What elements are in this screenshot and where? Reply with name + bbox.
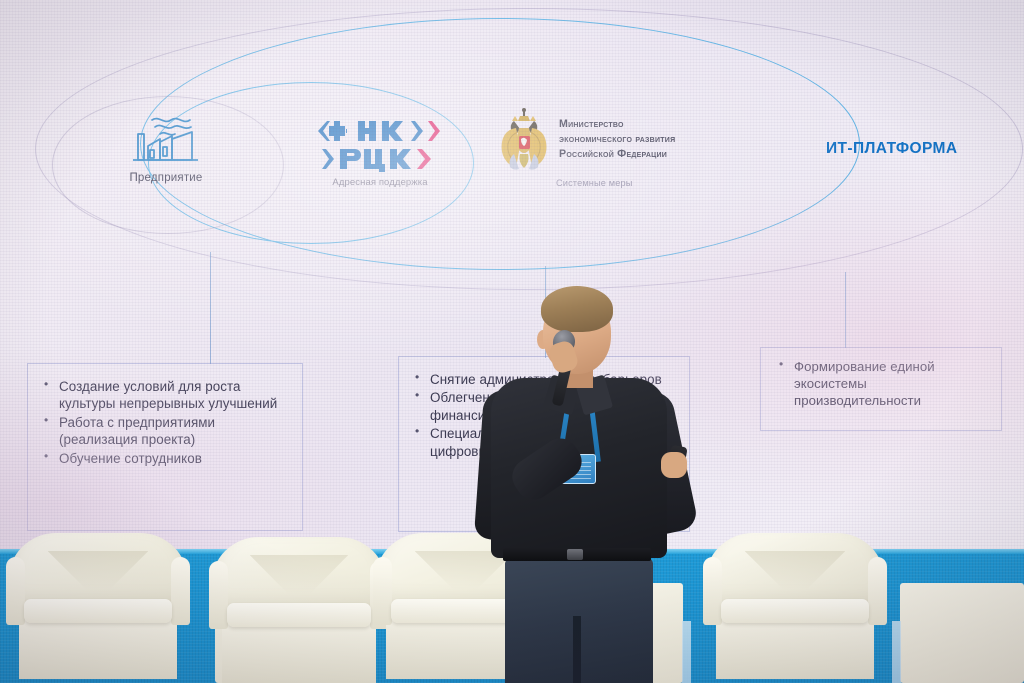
fck-rck-sublabel: Адресная поддержка	[286, 177, 474, 188]
ministry-sublabel: Системные меры	[556, 178, 798, 188]
armchair	[8, 533, 188, 683]
speaker-hair	[541, 286, 613, 332]
list-item: Работа с предприятиями (реализация проек…	[42, 414, 292, 449]
enterprise-label: Предприятие	[96, 172, 236, 184]
diagram-cell-enterprise: Предприятие	[96, 112, 236, 184]
speaker-hand-holding-clicker	[661, 452, 687, 478]
it-platform-label: ИТ-ПЛАТФОРМА	[826, 140, 1006, 158]
connector-line-right	[845, 272, 846, 348]
right-panel-2	[900, 583, 1024, 683]
bullet-box-right: Формирование единой экосистемы производи…	[760, 347, 1002, 431]
armchair	[211, 537, 387, 683]
speaker-leg-gap	[573, 616, 581, 683]
ministry-line-1: Министерство	[559, 117, 675, 132]
conference-stage-scene: Предприятие	[0, 0, 1024, 683]
ministry-line-3: Российской Федерации	[559, 147, 675, 162]
fck-logo	[286, 118, 474, 144]
russian-coat-of-arms-icon	[498, 108, 550, 172]
bullet-box-left: Создание условий для роста культуры непр…	[27, 363, 303, 531]
speaker-person	[455, 286, 715, 683]
ministry-line-2: экономического развития	[559, 132, 675, 147]
diagram-cell-fck-rck: Адресная поддержка	[286, 118, 474, 188]
rck-logo	[286, 146, 474, 172]
list-item: Создание условий для роста культуры непр…	[42, 378, 292, 413]
list-item: Обучение сотрудников	[42, 450, 292, 467]
speaker-belt-buckle	[567, 549, 583, 560]
factory-icon	[130, 112, 202, 166]
diagram-cell-it-platform: ИТ-ПЛАТФОРМА	[826, 140, 1006, 158]
list-item: Формирование единой экосистемы производи…	[777, 358, 991, 409]
armchair	[705, 533, 885, 683]
panel-edge	[892, 621, 901, 683]
connector-line-left	[210, 252, 211, 364]
diagram-cell-ministry: Министерство экономического развития Рос…	[498, 108, 798, 188]
